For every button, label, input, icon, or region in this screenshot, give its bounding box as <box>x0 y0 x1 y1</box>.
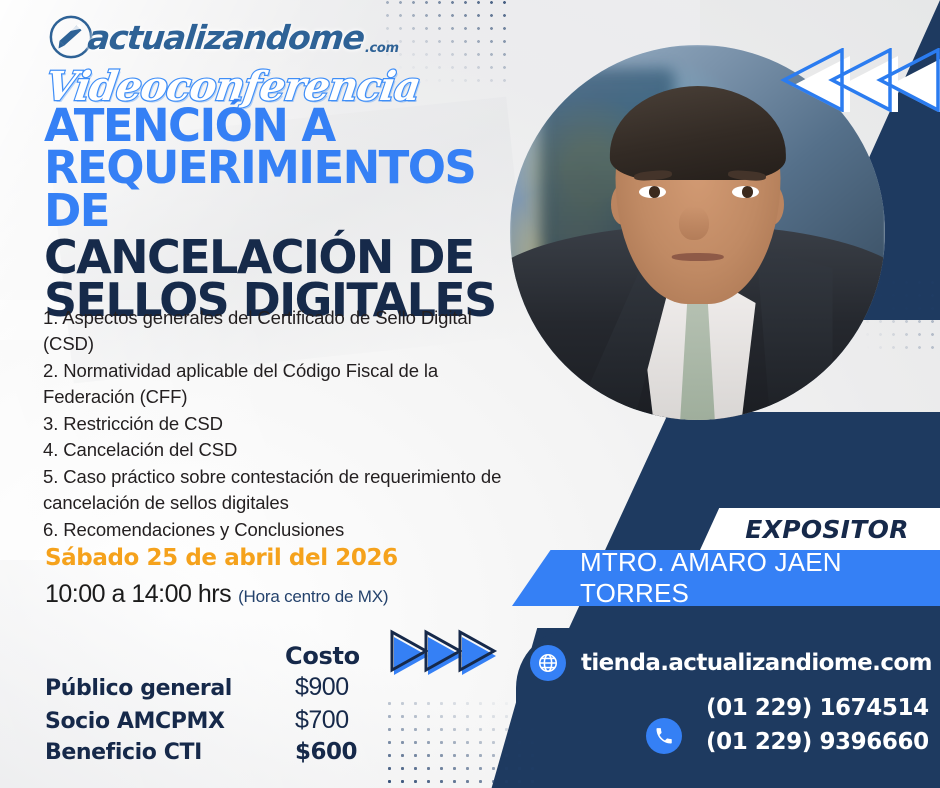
agenda-item: 4. Cancelación del CSD <box>43 437 508 463</box>
phone-number[interactable]: (01 229) 1674514 <box>706 695 929 721</box>
globe-icon <box>530 645 566 681</box>
event-timezone: (Hora centro de MX) <box>238 587 388 607</box>
pricing-row: Beneficio CTI $600 <box>45 739 465 765</box>
pricing-label: Beneficio CTI <box>45 740 295 765</box>
pricing-header: Costo <box>285 642 360 670</box>
agenda-item: 3. Restricción de CSD <box>43 411 508 437</box>
phone-icon-wrapper <box>646 718 682 754</box>
phone-icon <box>646 718 682 754</box>
pricing-row: Socio AMCPMX $700 <box>45 706 465 735</box>
pricing-value: $900 <box>295 673 349 702</box>
left-arrows-decoration <box>780 48 940 112</box>
website-url[interactable]: tienda.actualizandiome.com <box>581 650 932 676</box>
event-date: Sábado 25 de abril del 2026 <box>45 545 398 571</box>
webinar-poster: actualizandome .com Videoconferencia ATE… <box>0 0 940 788</box>
logo-tld: .com <box>365 41 399 56</box>
brand-logo: actualizandome .com <box>48 14 399 60</box>
pricing-table: Público general $900 Socio AMCPMX $700 B… <box>45 673 465 769</box>
portrait-nose <box>679 206 709 240</box>
agenda-item: 6. Recomendaciones y Conclusiones <box>43 517 508 543</box>
phone-list: (01 229) 1674514 (01 229) 9396660 <box>706 695 929 763</box>
right-arrows-decoration <box>388 628 500 676</box>
event-time: 10:00 a 14:00 hrs <box>45 580 231 609</box>
pricing-label: Socio AMCPMX <box>45 709 295 734</box>
agenda-item: 2. Normatividad aplicable del Código Fis… <box>43 358 508 411</box>
portrait-mouth <box>671 253 724 261</box>
logo-wordmark: actualizandome <box>86 21 365 54</box>
agenda-item: 5. Caso práctico sobre contestación de r… <box>43 464 508 517</box>
title-line-2: REQUERIMIENTOS DE <box>44 147 544 232</box>
expositor-label: EXPOSITOR <box>731 515 909 544</box>
agenda-item: 1. Aspectos generales del Certificado de… <box>43 305 508 358</box>
website-row[interactable]: tienda.actualizandiome.com <box>530 645 932 681</box>
phone-number[interactable]: (01 229) 9396660 <box>706 729 929 755</box>
pricing-value: $700 <box>295 706 349 735</box>
page-title: ATENCIÓN A REQUERIMIENTOS DE CANCELACIÓN… <box>44 105 544 322</box>
agenda-list: 1. Aspectos generales del Certificado de… <box>43 305 508 543</box>
speaker-name: MTRO. AMARO JAEN TORRES <box>512 547 940 609</box>
pricing-label: Público general <box>45 676 295 701</box>
speaker-name-band: MTRO. AMARO JAEN TORRES <box>512 550 940 606</box>
expositor-tab: EXPOSITOR <box>700 508 940 550</box>
pricing-value: $600 <box>295 739 357 765</box>
pricing-row: Público general $900 <box>45 673 465 702</box>
event-time-row: 10:00 a 14:00 hrs (Hora centro de MX) <box>45 580 388 609</box>
